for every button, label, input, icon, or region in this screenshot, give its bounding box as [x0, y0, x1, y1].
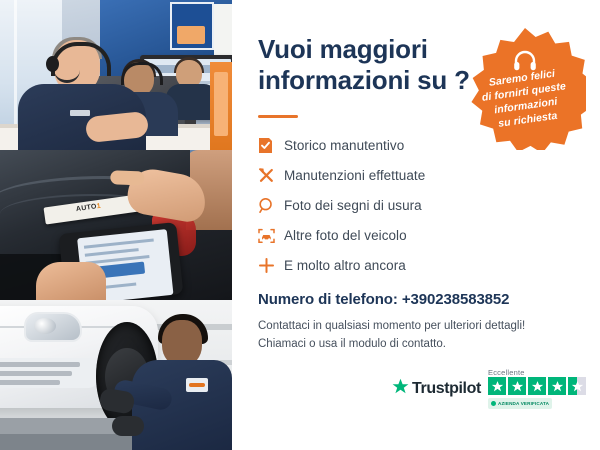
list-item: Foto dei segni di usura: [258, 192, 548, 219]
foreground-operator: [24, 40, 142, 150]
verified-label: AZIENDA VERIFICATA: [498, 401, 549, 406]
star-half: [568, 377, 586, 395]
list-item: E molto altro ancora: [258, 252, 548, 279]
feature-list: Storico manutentivo Manutenzioni effettu…: [258, 132, 548, 282]
trustpilot-star-icon: [392, 378, 409, 400]
document-check-icon: [258, 135, 284, 157]
vehicle-info-banner: AUTO1: [0, 0, 600, 450]
car-inspection-photo: AUTO1: [0, 150, 232, 300]
wall-paper: [214, 4, 232, 56]
headlight: [24, 312, 82, 342]
call-center-photo: [0, 0, 232, 150]
orange-shelf: [210, 62, 232, 150]
headline-line-1: Vuoi maggiori: [258, 34, 488, 65]
list-item-label: Storico manutentivo: [284, 138, 404, 153]
headline-line-2: informazioni su ?: [258, 65, 488, 96]
list-item: Storico manutentivo: [258, 132, 548, 159]
list-item: Altre foto del veicolo: [258, 222, 548, 249]
list-item-label: E molto altro ancora: [284, 258, 406, 273]
verified-check-icon: [491, 401, 496, 406]
star-rating: [488, 377, 586, 395]
magnifier-icon: [258, 195, 284, 217]
phone-number[interactable]: +390238583852: [402, 291, 510, 308]
mechanic: [128, 320, 232, 450]
subtext-line-2: Chiamaci o usa il modulo di contatto.: [258, 335, 558, 353]
star-filled: [488, 377, 506, 395]
plus-icon: [258, 255, 284, 277]
list-item-label: Manutenzioni effettuate: [284, 168, 425, 183]
phone-line: Numero di telefono: +390238583852: [258, 291, 509, 308]
page-title: Vuoi maggiori informazioni su ?: [258, 34, 488, 95]
trustpilot-logo: Trustpilot: [392, 378, 481, 400]
accent-divider: [258, 115, 298, 118]
car-scan-icon: [258, 225, 284, 247]
contact-subtext: Contattaci in qualsiasi momento per ulte…: [258, 317, 558, 353]
star-filled: [528, 377, 546, 395]
content-panel: Vuoi maggiori informazioni su ? Saremo f…: [232, 0, 600, 450]
technician-hand-lower: [36, 262, 106, 300]
front-bumper: [0, 358, 98, 388]
star-filled: [548, 377, 566, 395]
photo-column: AUTO1: [0, 0, 232, 450]
list-item: Manutenzioni effettuate: [258, 162, 548, 189]
subtext-line-1: Contattaci in qualsiasi momento per ulte…: [258, 317, 558, 335]
list-item-label: Altre foto del veicolo: [284, 228, 407, 243]
wall-poster: [170, 2, 214, 50]
trustpilot-brand: Trustpilot: [412, 380, 481, 398]
garage-lift-photo: [0, 300, 232, 450]
phone-label: Numero di telefono:: [258, 291, 402, 308]
rating-label: Eccellente: [488, 368, 525, 377]
list-item-label: Foto dei segni di usura: [284, 198, 422, 213]
verified-badge: AZIENDA VERIFICATA: [488, 398, 552, 409]
wrench-screwdriver-icon: [258, 165, 284, 187]
star-filled: [508, 377, 526, 395]
